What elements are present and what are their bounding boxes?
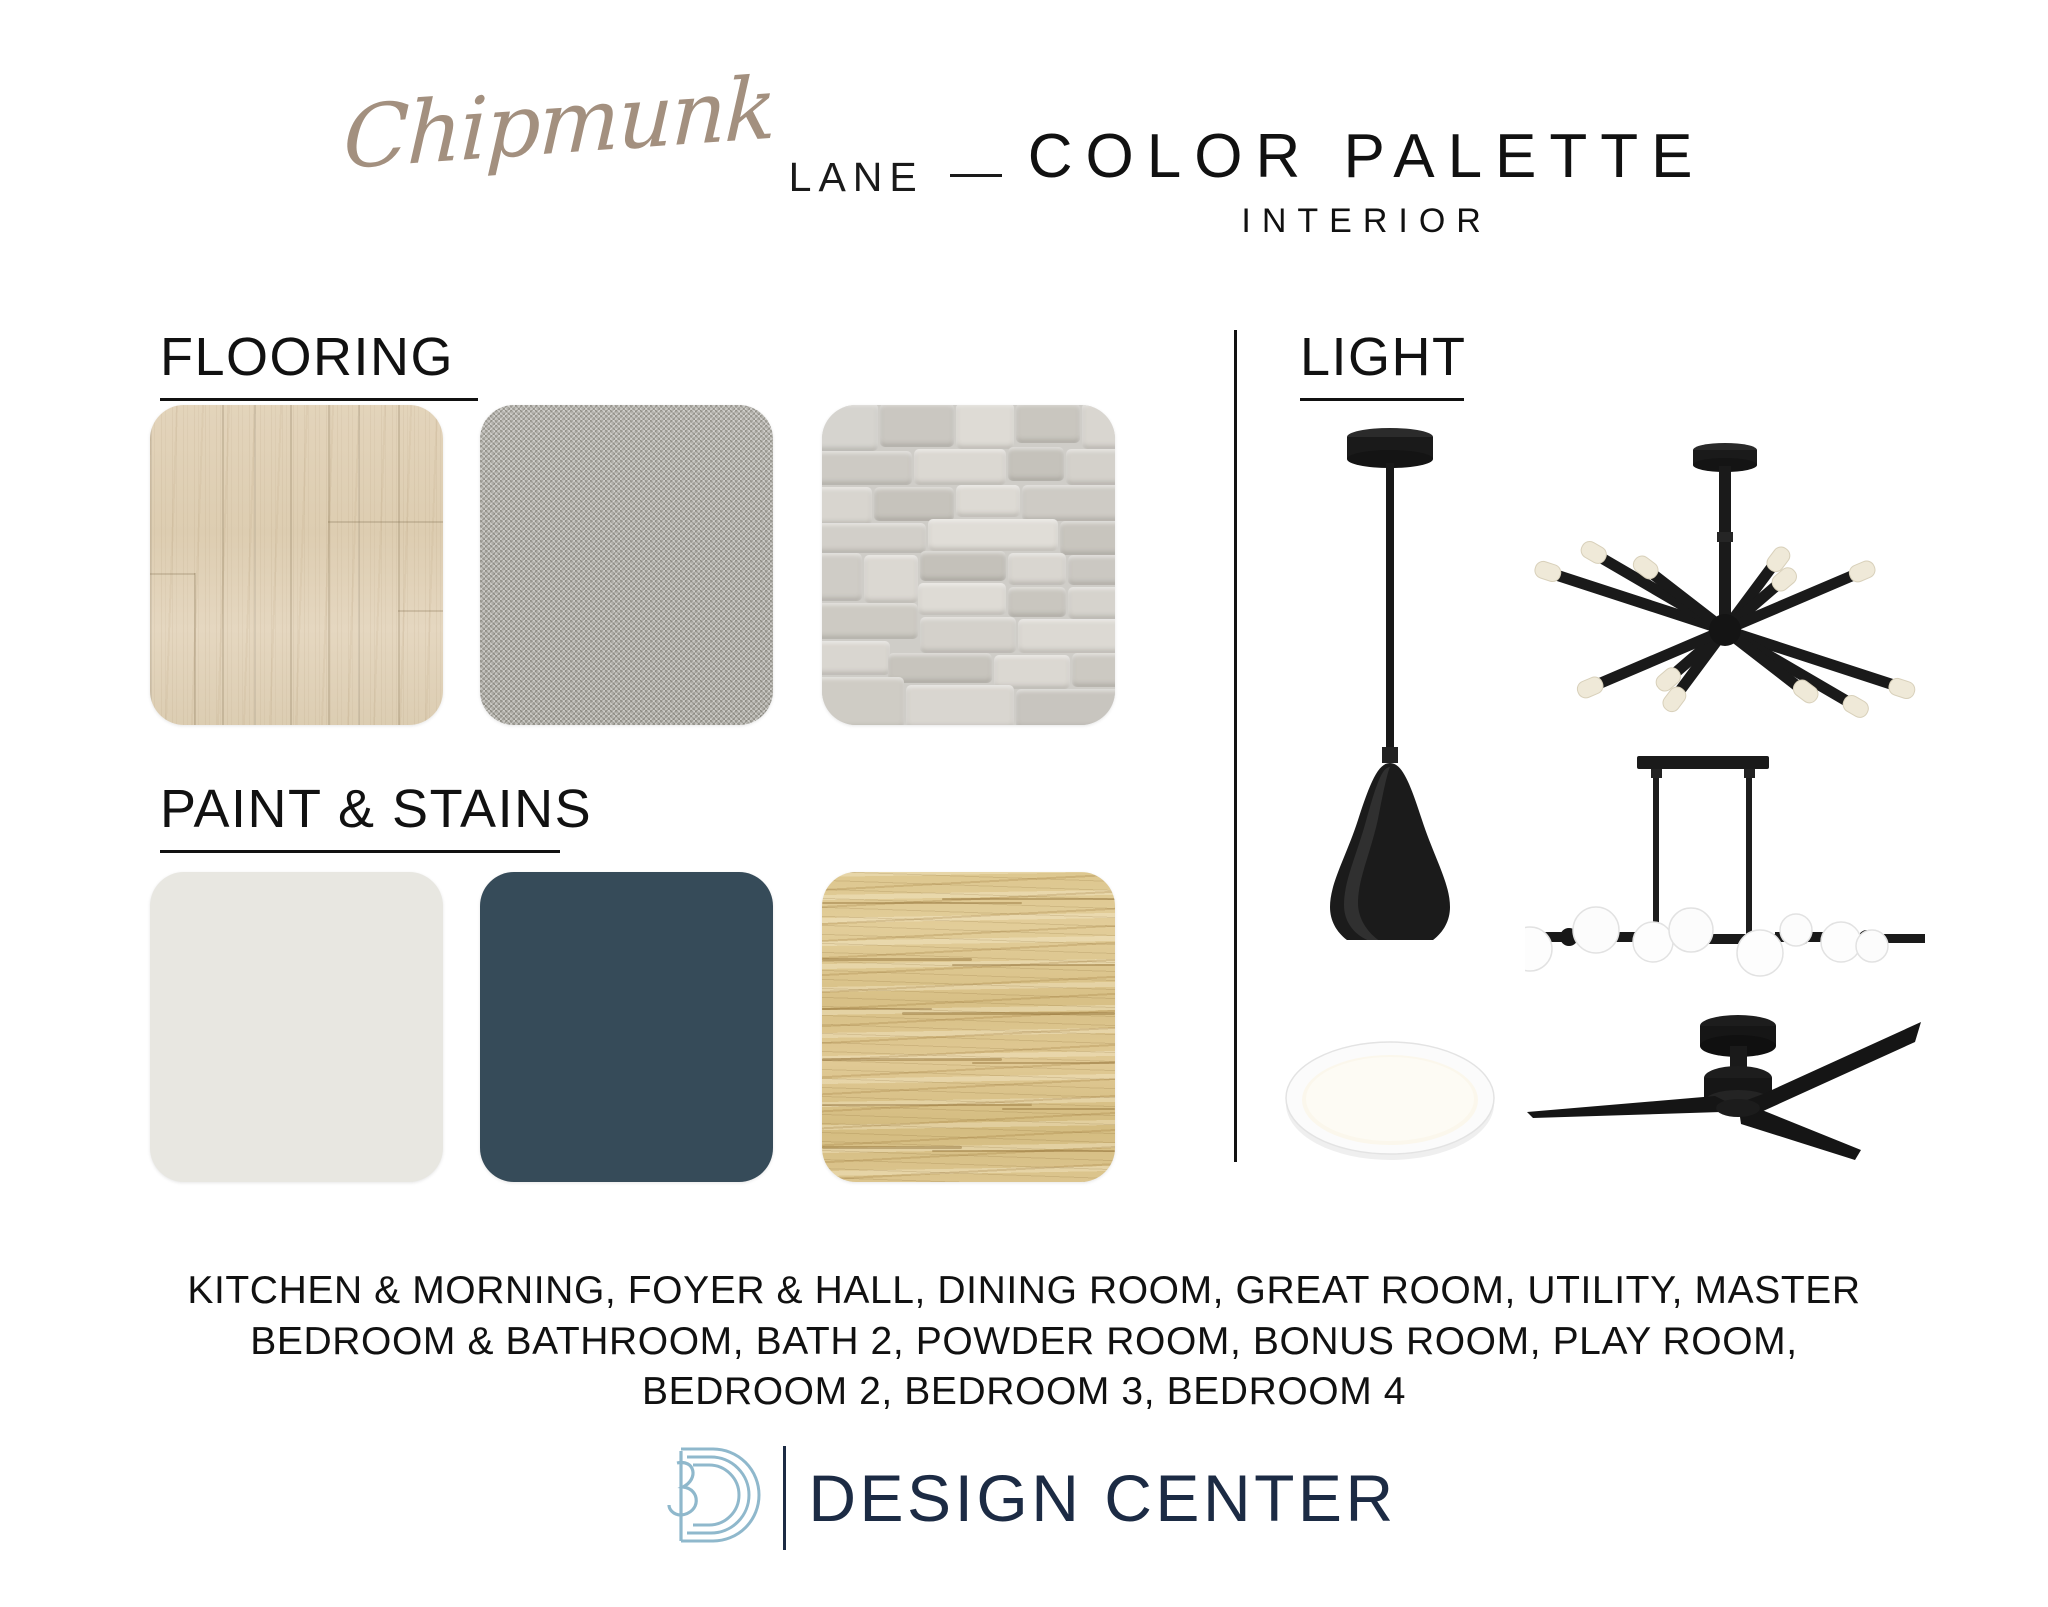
rooms-list: KITCHEN & MORNING, FOYER & HALL, DINING … — [150, 1266, 1898, 1418]
swatch-stacked-ledger-stone[interactable] — [822, 405, 1115, 725]
paint-stains-underline — [160, 850, 560, 853]
page-subtitle: INTERIOR — [1028, 204, 1706, 238]
footer-logo: DESIGN CENTER — [0, 1437, 2048, 1558]
swatch-light-oak-wood-flooring[interactable] — [150, 405, 443, 725]
design-center-monogram-icon — [651, 1437, 767, 1558]
fixture-black-three-blade-ceiling-fan[interactable] — [1525, 1000, 1925, 1190]
light-label: LIGHT — [1300, 330, 1467, 384]
fixture-black-teardrop-pendant-light[interactable] — [1290, 415, 1490, 940]
color-palette-board: Chipmunk LANE COLOR PALETTE INTERIOR FLO… — [0, 0, 2048, 1607]
fixture-white-round-led-flush-mount[interactable] — [1280, 1020, 1500, 1180]
header-dash-divider — [950, 174, 1002, 177]
flooring-underline — [160, 398, 478, 401]
paint-stains-label: PAINT & STAINS — [160, 782, 592, 836]
swatch-natural-oak-stain[interactable] — [822, 872, 1115, 1182]
section-heading-light: LIGHT — [1300, 330, 1467, 401]
section-heading-paint-stains: PAINT & STAINS — [160, 782, 592, 853]
section-divider — [1234, 330, 1237, 1162]
board-header: Chipmunk LANE COLOR PALETTE INTERIOR — [0, 74, 2048, 238]
fixture-black-linear-globe-chandelier[interactable] — [1525, 750, 1925, 1000]
project-script-name: Chipmunk — [342, 65, 776, 182]
swatch-off-white-paint[interactable] — [150, 872, 443, 1182]
fixture-black-sputnik-chandelier[interactable] — [1525, 420, 1925, 740]
flooring-label: FLOORING — [160, 330, 478, 384]
design-center-wordmark: DESIGN CENTER — [808, 1465, 1396, 1531]
project-lane-label: LANE — [789, 154, 924, 201]
swatch-grey-carpet[interactable] — [480, 405, 773, 725]
light-underline — [1300, 398, 1464, 401]
page-title: COLOR PALETTE — [1028, 126, 1706, 188]
section-heading-flooring: FLOORING — [160, 330, 478, 401]
logo-vertical-divider — [783, 1446, 786, 1550]
swatch-navy-blue-paint[interactable] — [480, 872, 773, 1182]
